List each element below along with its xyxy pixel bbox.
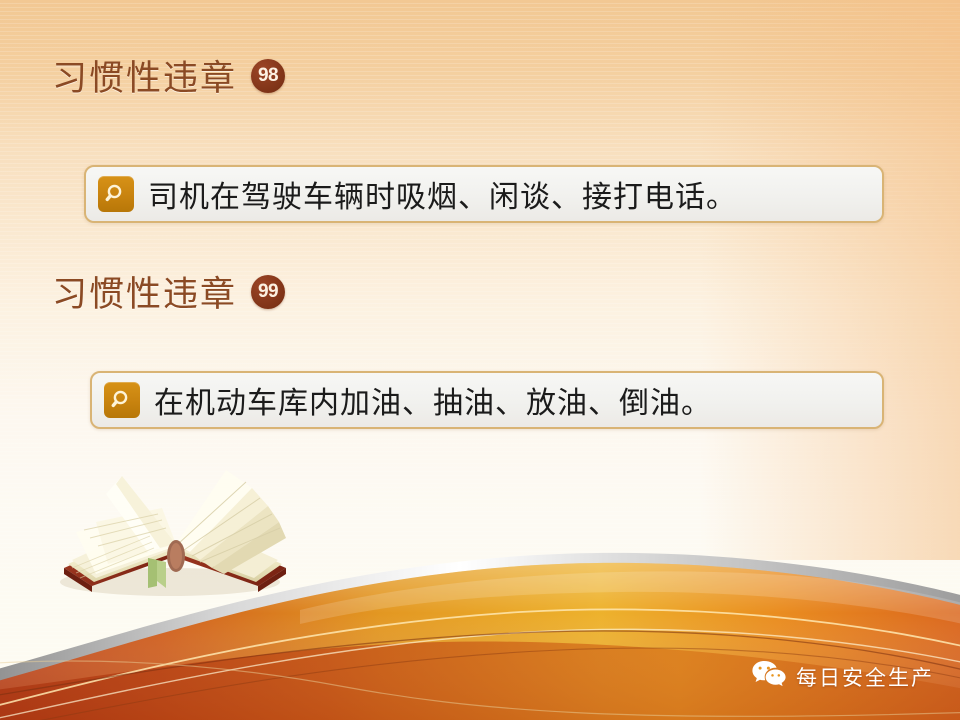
section-heading-2: 习惯性违章 99 — [52, 266, 285, 317]
magnifier-icon — [98, 176, 134, 212]
section-number-badge: 98 — [251, 59, 285, 93]
section-number-badge: 99 — [251, 275, 285, 309]
slide-canvas: 习惯性违章 98 司机在驾驶车辆时吸烟、闲谈、接打电话。 习惯性违章 99 在机… — [0, 0, 960, 720]
wave-sheen — [300, 571, 960, 628]
wechat-label: 每日安全生产 — [796, 662, 934, 692]
background-texture — [0, 0, 960, 720]
wave-main — [0, 563, 960, 720]
magnifier-icon — [104, 382, 140, 418]
statement-text: 在机动车库内加油、抽油、放油、倒油。 — [154, 378, 712, 422]
statement-box-1: 司机在驾驶车辆时吸烟、闲谈、接打电话。 — [84, 165, 884, 223]
section-heading-1: 习惯性违章 98 — [52, 50, 285, 101]
background-right-glow — [700, 0, 960, 560]
wechat-icon — [751, 659, 787, 694]
wechat-watermark: 每日安全生产 — [751, 659, 934, 694]
section-heading-label: 习惯性违章 — [52, 50, 237, 101]
open-book-illustration — [60, 470, 286, 596]
section-heading-label: 习惯性违章 — [52, 266, 237, 317]
statement-box-2: 在机动车库内加油、抽油、放油、倒油。 — [90, 371, 884, 429]
statement-text: 司机在驾驶车辆时吸烟、闲谈、接打电话。 — [148, 172, 737, 216]
